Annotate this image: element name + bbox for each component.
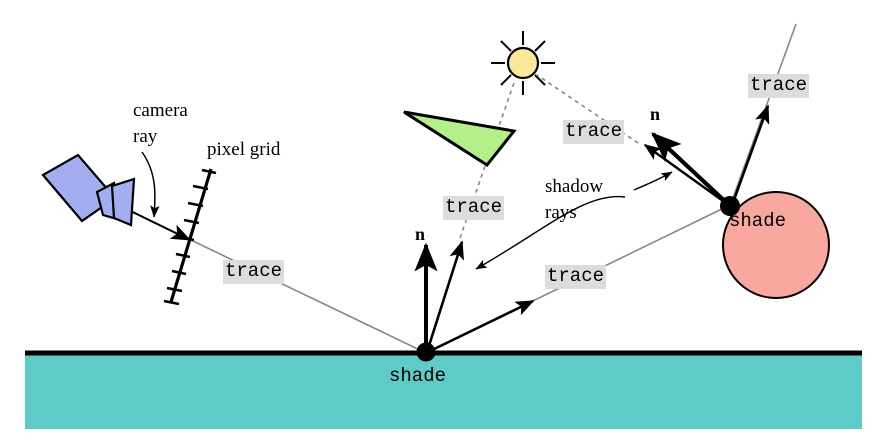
normal-label-sphere: n <box>650 105 660 124</box>
light-source-sun <box>491 31 555 95</box>
reflected-ray-ground-arrow <box>428 301 533 352</box>
shadow-ray-arrow-sphere <box>645 145 730 206</box>
shadow-rays-label-line2: rays <box>545 203 577 224</box>
camera-ray-label-line2: ray <box>133 127 157 148</box>
trace-ray-sphere-up <box>730 24 796 208</box>
pixel-grid-label: pixel grid <box>207 140 280 161</box>
trace-label-camera-ray: trace <box>223 260 284 284</box>
shade-point-ground-dot <box>417 343 436 362</box>
trace-label-sphere-shadow: trace <box>563 120 624 144</box>
triangle-object <box>404 112 514 165</box>
shade-label-sphere: shade <box>729 211 786 232</box>
camera-ray-label-line1: camera <box>133 101 188 122</box>
trace-label-ground-shadow: trace <box>443 196 504 220</box>
pixel-grid-object <box>164 169 216 304</box>
trace-label-sphere-reflect: trace <box>748 74 809 98</box>
shadow-rays-leader-upper <box>634 172 672 190</box>
normal-arrow-sphere <box>653 134 730 206</box>
ray-tracing-diagram: camera ray pixel grid trace trace trace … <box>0 0 881 441</box>
shadow-ray-arrow-ground <box>427 242 462 352</box>
shade-label-ground: shade <box>389 366 446 387</box>
camera-ray-leader <box>142 152 155 217</box>
trace-label-ground-reflect: trace <box>545 265 606 289</box>
normal-label-ground: n <box>415 225 425 244</box>
shadow-rays-label-line1: shadow <box>545 177 603 198</box>
camera-object <box>43 155 134 225</box>
